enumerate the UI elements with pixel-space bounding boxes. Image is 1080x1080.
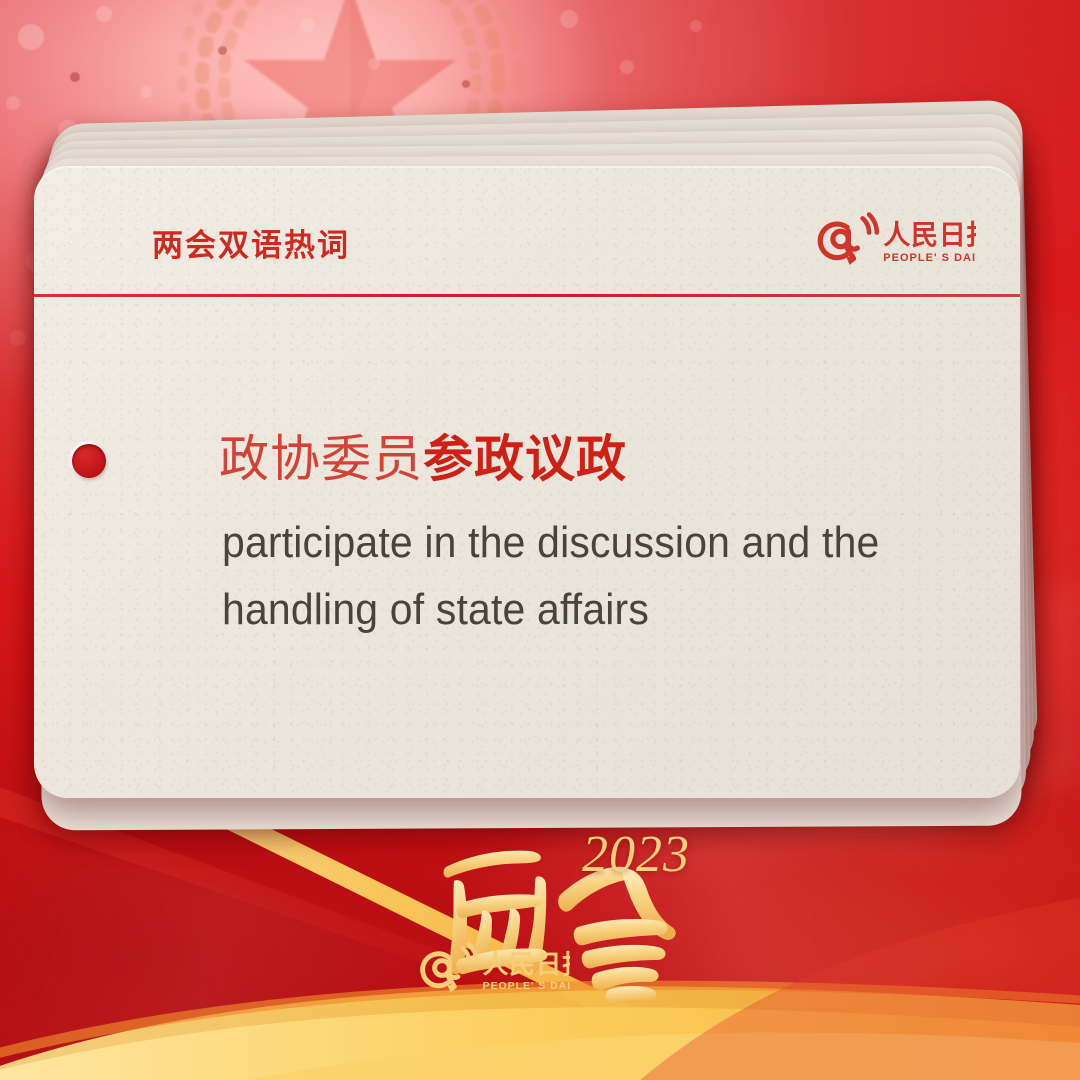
peoples-daily-logo-gold: 人民日报 PEOPLE' S DAILY (410, 937, 570, 999)
punch-hole-icon (72, 444, 106, 478)
year-label: 2023 (582, 825, 690, 884)
svg-text:PEOPLE' S DAILY: PEOPLE' S DAILY (483, 981, 570, 992)
footer-emblem: 2023 人民日报 PEOPLE' S DAILY (400, 815, 740, 1045)
card-header-title: 两会双语热词 (152, 220, 350, 265)
svg-text:人民日报: 人民日报 (483, 949, 570, 979)
chinese-term: 政协委员参政议政 (219, 419, 627, 491)
header-divider (34, 294, 1020, 297)
chinese-term-light: 政协委员 (219, 431, 423, 487)
peoples-daily-logo-red: 人民日报 PEOPLE' S DAILY (806, 208, 976, 270)
card-content: 两会双语热词 人民日报 P (34, 166, 1020, 798)
card-header: 两会双语热词 人民日报 P (152, 208, 980, 288)
svg-text:PEOPLE' S DAILY: PEOPLE' S DAILY (883, 252, 976, 264)
english-translation: participate in the discussion and the ha… (222, 510, 929, 644)
svg-text:人民日报: 人民日报 (883, 219, 976, 250)
poster-canvas: 两会双语热词 人民日报 P (0, 0, 1080, 1080)
chinese-term-bold: 参政议政 (423, 431, 627, 487)
